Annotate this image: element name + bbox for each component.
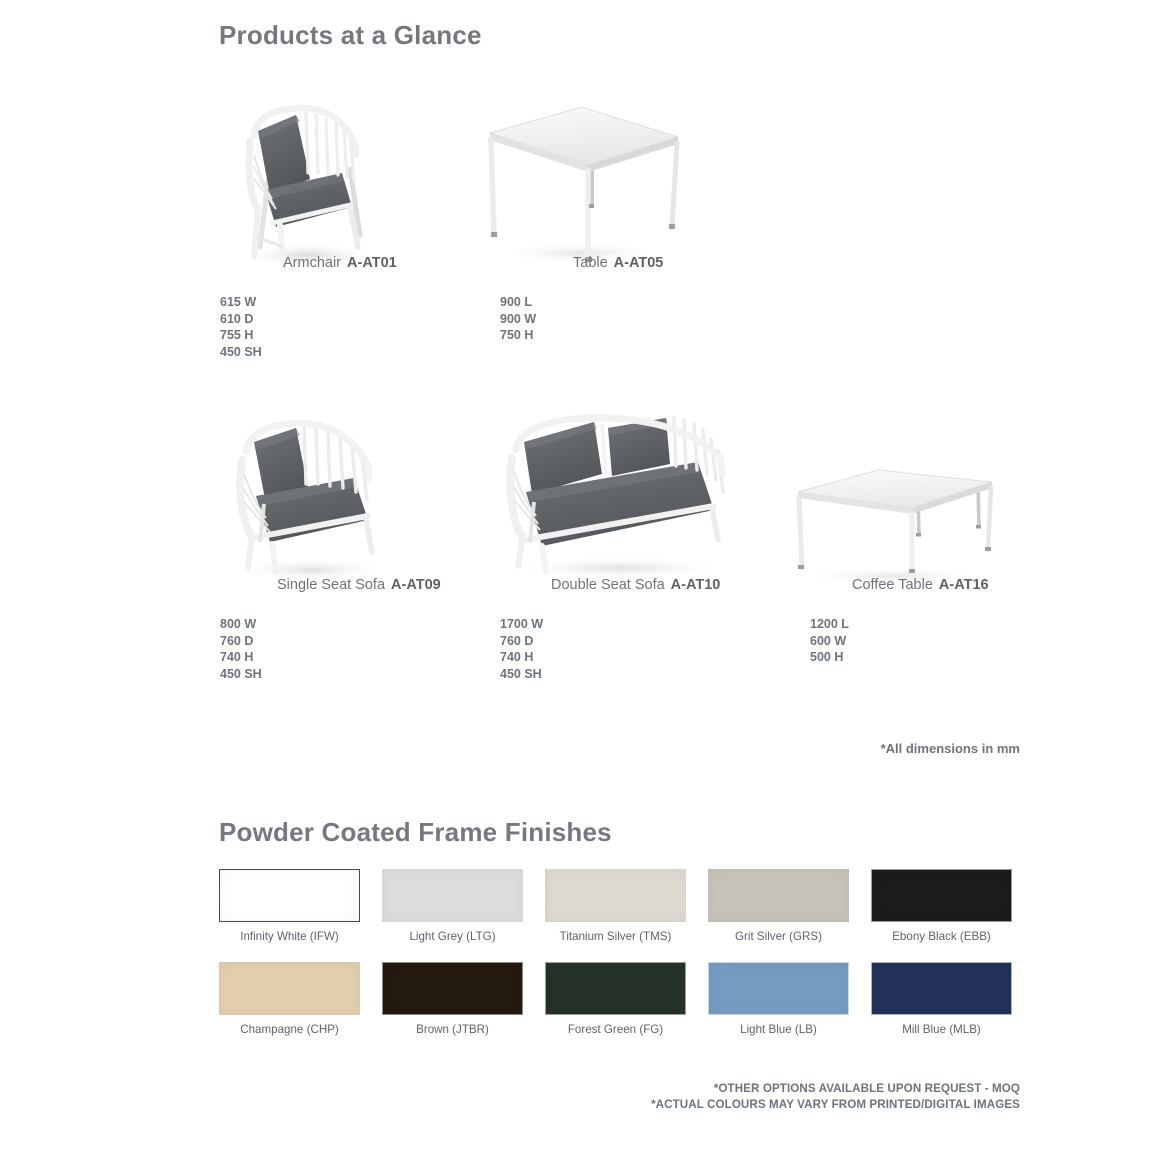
dimensions-coffee-table: 1200 L 600 W 500 H (810, 616, 849, 666)
armchair-icon (210, 95, 430, 275)
finish-swatch-row: Champagne (CHP) Brown (JTBR) Forest Gree… (219, 962, 1019, 1036)
caption-double-seat-sofa: Double Seat SofaA-AT10 (551, 577, 720, 593)
dimensions-armchair: 615 W 610 D 755 H 450 SH (220, 294, 262, 360)
dimension-line: 600 W (810, 633, 849, 650)
finish-swatch-row: Infinity White (IFW) Light Grey (LTG) Ti… (219, 869, 1019, 943)
swatch-label: Titanium Silver (TMS) (545, 930, 686, 943)
product-table (470, 95, 700, 275)
dimension-line: 755 H (220, 327, 262, 344)
product-armchair (210, 95, 430, 275)
swatch-label: Champagne (CHP) (219, 1023, 360, 1036)
coffee-table-icon (782, 462, 1007, 590)
dimension-line: 760 D (220, 633, 262, 650)
product-name: Single Seat Sofa (277, 577, 385, 593)
swatch-chip[interactable] (708, 962, 849, 1015)
dimension-line: 800 W (220, 616, 262, 633)
dimensions-double-seat-sofa: 1700 W 760 D 740 H 450 SH (500, 616, 543, 682)
swatch-titanium-silver[interactable]: Titanium Silver (TMS) (545, 869, 686, 943)
dimension-line: 450 SH (220, 666, 262, 683)
product-code: A-AT16 (939, 577, 989, 593)
swatch-chip[interactable] (219, 962, 360, 1015)
swatch-label: Infinity White (IFW) (219, 930, 360, 943)
swatch-chip[interactable] (382, 962, 523, 1015)
swatch-label: Mill Blue (MLB) (871, 1023, 1012, 1036)
swatch-brown[interactable]: Brown (JTBR) (382, 962, 523, 1036)
dimension-line: 450 SH (500, 666, 543, 683)
swatch-chip[interactable] (545, 869, 686, 922)
product-name: Table (573, 255, 608, 271)
product-name: Armchair (283, 255, 341, 271)
dimension-line: 610 D (220, 311, 262, 328)
swatch-chip[interactable] (871, 869, 1012, 922)
footnotes: *OTHER OPTIONS AVAILABLE UPON REQUEST - … (651, 1081, 1020, 1113)
dimension-line: 900 W (500, 311, 536, 328)
dimension-line: 740 H (500, 649, 543, 666)
footnote-colours: *ACTUAL COLOURS MAY VARY FROM PRINTED/DI… (651, 1097, 1020, 1113)
caption-single-seat-sofa: Single Seat SofaA-AT09 (277, 577, 441, 593)
catalog-page: Products at a Glance (0, 0, 1176, 1176)
swatch-label: Grit Silver (GRS) (708, 930, 849, 943)
swatch-champagne[interactable]: Champagne (CHP) (219, 962, 360, 1036)
swatch-light-blue[interactable]: Light Blue (LB) (708, 962, 849, 1036)
product-name: Double Seat Sofa (551, 577, 665, 593)
dimensions-single-seat-sofa: 800 W 760 D 740 H 450 SH (220, 616, 262, 682)
swatch-light-grey[interactable]: Light Grey (LTG) (382, 869, 523, 943)
product-coffee-table (782, 462, 1007, 590)
double-seat-sofa-icon (490, 412, 755, 590)
page-title-finishes: Powder Coated Frame Finishes (219, 817, 612, 848)
footnote-options: *OTHER OPTIONS AVAILABLE UPON REQUEST - … (651, 1081, 1020, 1097)
swatch-ebony-black[interactable]: Ebony Black (EBB) (871, 869, 1012, 943)
dimension-line: 1700 W (500, 616, 543, 633)
product-code: A-AT05 (614, 255, 664, 271)
product-double-seat-sofa (490, 412, 755, 590)
caption-table: TableA-AT05 (573, 255, 663, 271)
swatch-forest-green[interactable]: Forest Green (FG) (545, 962, 686, 1036)
dimension-line: 750 H (500, 327, 536, 344)
product-code: A-AT10 (671, 577, 721, 593)
swatch-chip[interactable] (708, 869, 849, 922)
swatch-label: Light Blue (LB) (708, 1023, 849, 1036)
swatch-chip[interactable] (545, 962, 686, 1015)
dimension-line: 740 H (220, 649, 262, 666)
square-table-icon (470, 95, 700, 275)
swatch-label: Brown (JTBR) (382, 1023, 523, 1036)
dimension-line: 615 W (220, 294, 262, 311)
swatch-label: Forest Green (FG) (545, 1023, 686, 1036)
dimension-line: 500 H (810, 649, 849, 666)
dimension-line: 1200 L (810, 616, 849, 633)
swatch-chip[interactable] (382, 869, 523, 922)
product-name: Coffee Table (852, 577, 933, 593)
swatch-label: Light Grey (LTG) (382, 930, 523, 943)
caption-coffee-table: Coffee TableA-AT16 (852, 577, 989, 593)
single-seat-sofa-icon (212, 412, 422, 590)
page-title-products: Products at a Glance (219, 20, 482, 51)
dimension-line: 900 L (500, 294, 536, 311)
dimension-line: 760 D (500, 633, 543, 650)
product-code: A-AT01 (347, 255, 397, 271)
swatch-grit-silver[interactable]: Grit Silver (GRS) (708, 869, 849, 943)
swatch-label: Ebony Black (EBB) (871, 930, 1012, 943)
swatch-infinity-white[interactable]: Infinity White (IFW) (219, 869, 360, 943)
swatch-chip[interactable] (871, 962, 1012, 1015)
swatch-chip[interactable] (219, 869, 360, 922)
swatch-mill-blue[interactable]: Mill Blue (MLB) (871, 962, 1012, 1036)
dimensions-note: *All dimensions in mm (881, 741, 1020, 756)
finish-swatch-grid: Infinity White (IFW) Light Grey (LTG) Ti… (219, 869, 1019, 1055)
dimension-line: 450 SH (220, 344, 262, 361)
product-single-seat-sofa (212, 412, 422, 590)
product-code: A-AT09 (391, 577, 441, 593)
dimensions-table: 900 L 900 W 750 H (500, 294, 536, 344)
caption-armchair: ArmchairA-AT01 (283, 255, 397, 271)
